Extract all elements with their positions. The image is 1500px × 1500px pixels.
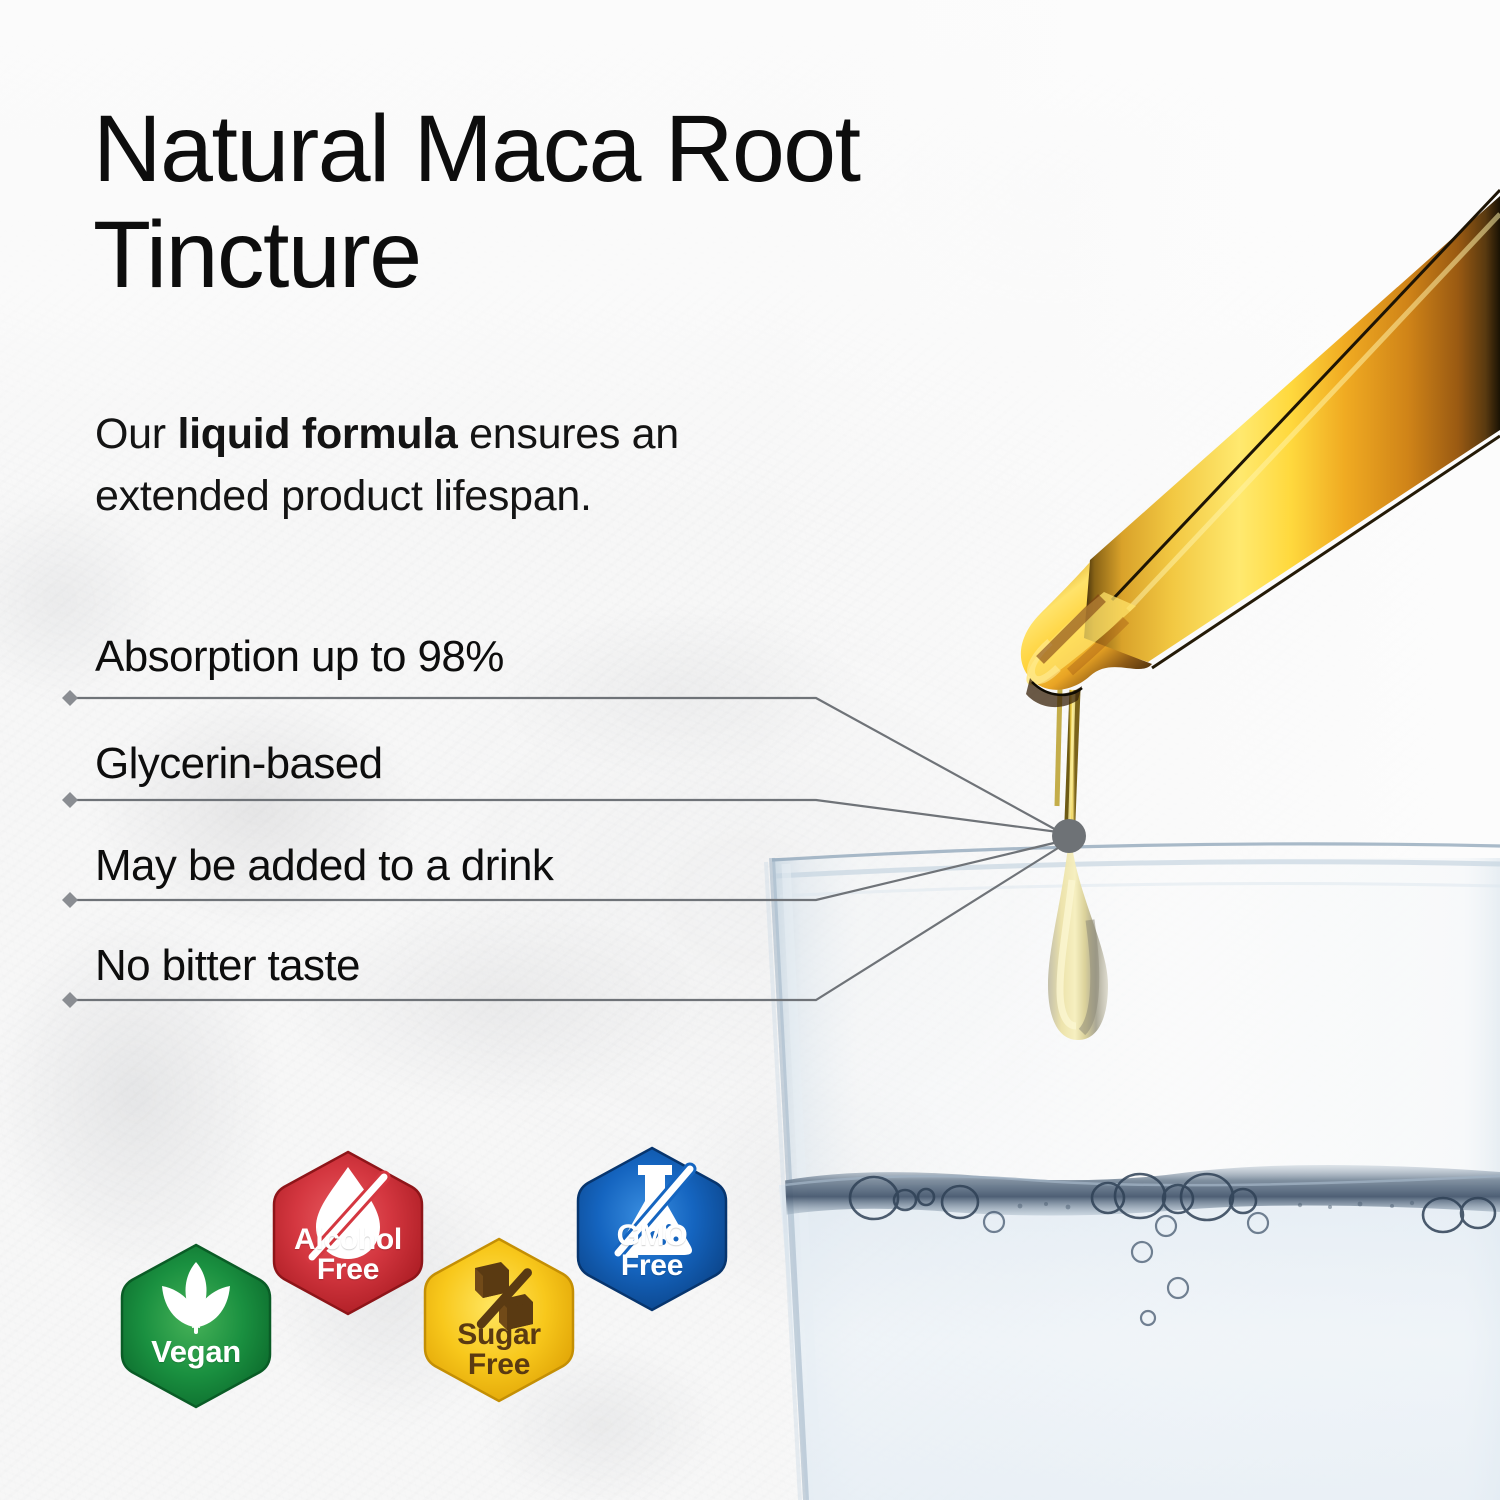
leader-marker-absorption (62, 690, 78, 706)
leader-marker-drink (62, 892, 78, 908)
leader-convergence-hub (1052, 819, 1086, 853)
leader-line-drink (70, 842, 1058, 900)
leader-marker-glycerin (62, 792, 78, 808)
leader-line-glycerin (70, 800, 1058, 832)
callout-leader-lines (0, 0, 1500, 1500)
infographic-canvas: Natural Maca Root Tincture Our liquid fo… (0, 0, 1500, 1500)
leader-line-taste (70, 848, 1058, 1000)
leader-marker-taste (62, 992, 78, 1008)
